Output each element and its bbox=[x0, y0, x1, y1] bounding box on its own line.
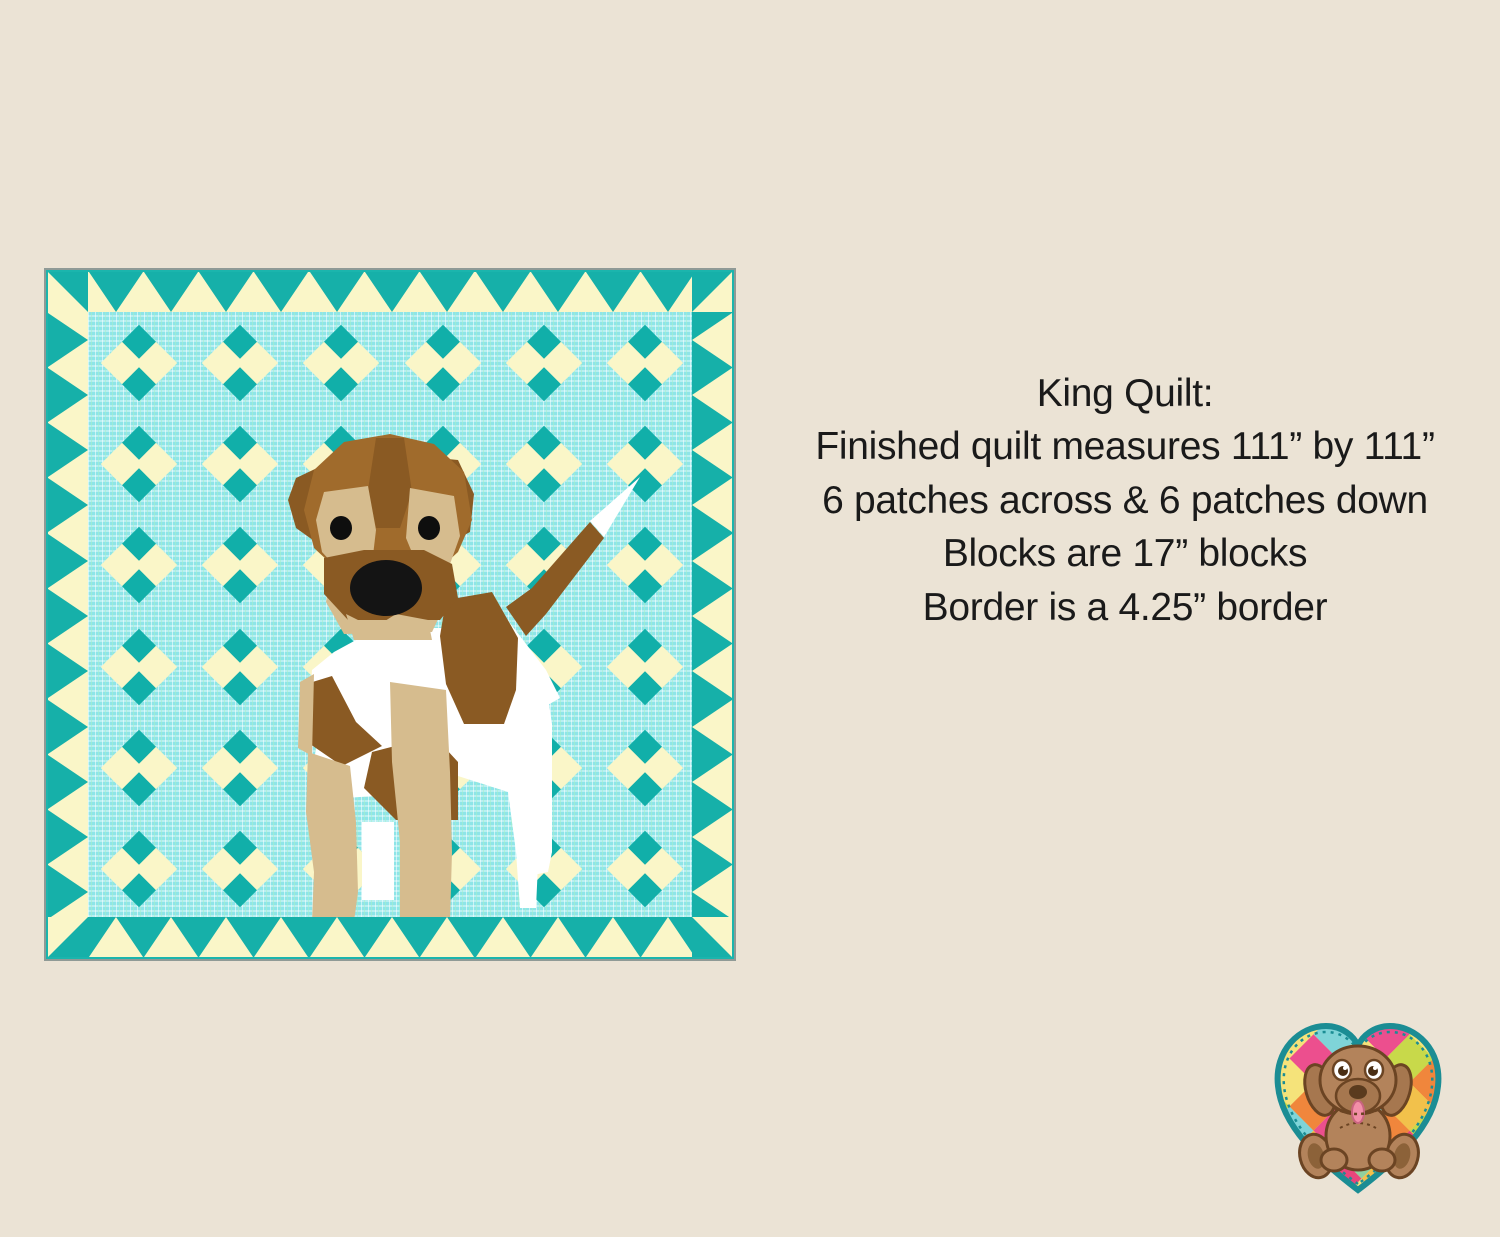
border-triangle bbox=[586, 272, 640, 312]
border-triangle bbox=[48, 700, 88, 754]
border-triangle bbox=[310, 272, 364, 312]
quilt-mockup-figure bbox=[44, 268, 736, 961]
border-triangle bbox=[254, 272, 308, 312]
border-triangle bbox=[89, 272, 143, 312]
border-triangle bbox=[48, 589, 88, 643]
border-triangle bbox=[310, 917, 364, 957]
quilt-border-top bbox=[88, 272, 692, 312]
border-triangle bbox=[476, 917, 530, 957]
border-triangle bbox=[48, 368, 88, 422]
border-triangle bbox=[199, 917, 253, 957]
quilt-inner bbox=[48, 272, 732, 957]
quilt-border-left bbox=[48, 312, 88, 917]
quilt-center-field bbox=[88, 312, 692, 917]
dog-nose bbox=[350, 560, 422, 616]
border-triangle bbox=[89, 917, 143, 957]
puppy-paw-left bbox=[1321, 1149, 1347, 1171]
border-triangle bbox=[692, 478, 732, 532]
border-triangle bbox=[254, 917, 308, 957]
quilt-border-bottom bbox=[88, 917, 692, 957]
puppy-glint-right bbox=[1373, 1066, 1377, 1070]
border-triangle bbox=[476, 272, 530, 312]
dog-front-shoulder-tan bbox=[298, 674, 314, 756]
info-line-5: Border is a 4.25” border bbox=[755, 581, 1495, 634]
quilt-info-text: King Quilt: Finished quilt measures 111”… bbox=[755, 367, 1495, 634]
border-triangle bbox=[48, 534, 88, 588]
border-triangle bbox=[531, 917, 585, 957]
border-triangle bbox=[692, 534, 732, 588]
border-triangle bbox=[692, 368, 732, 422]
border-triangle bbox=[144, 272, 198, 312]
border-triangle bbox=[586, 917, 640, 957]
border-triangle bbox=[365, 272, 419, 312]
border-triangle bbox=[692, 700, 732, 754]
puppy-paw-right bbox=[1369, 1149, 1395, 1171]
border-triangle bbox=[420, 917, 474, 957]
border-triangle bbox=[48, 423, 88, 477]
dog-eye-left bbox=[330, 516, 352, 540]
quilt-corner-bottom-left bbox=[48, 917, 88, 957]
dog-tail-brown bbox=[506, 522, 604, 636]
quilt-corner-bottom-right bbox=[692, 917, 732, 957]
border-triangle bbox=[48, 644, 88, 698]
border-triangle bbox=[199, 272, 253, 312]
quilt-corner-top-left bbox=[48, 272, 88, 312]
puppy-tongue bbox=[1352, 1101, 1364, 1123]
border-triangle bbox=[48, 810, 88, 864]
quilt-corner-top-right bbox=[692, 272, 732, 312]
border-triangle bbox=[48, 755, 88, 809]
dog-front-leg-right-tan bbox=[390, 682, 452, 917]
border-triangle bbox=[641, 917, 692, 957]
info-line-4: Blocks are 17” blocks bbox=[755, 527, 1495, 580]
info-line-3: 6 patches across & 6 patches down bbox=[755, 474, 1495, 527]
border-triangle bbox=[365, 917, 419, 957]
border-triangle bbox=[420, 272, 474, 312]
dog-tail-white-tip bbox=[590, 477, 640, 537]
border-triangle bbox=[641, 272, 692, 312]
info-line-1: King Quilt: bbox=[755, 367, 1495, 420]
dog-eye-right bbox=[418, 516, 440, 540]
dog-applique bbox=[128, 352, 692, 917]
border-triangle bbox=[692, 810, 732, 864]
border-triangle bbox=[531, 272, 585, 312]
puppy-nose bbox=[1349, 1085, 1367, 1099]
border-triangle bbox=[692, 644, 732, 698]
border-triangle bbox=[692, 423, 732, 477]
dog-front-leg-left-tan bbox=[306, 752, 358, 917]
patchwork-puppy-heart-logo bbox=[1268, 1008, 1448, 1198]
quilt-frame bbox=[44, 268, 736, 961]
border-triangle bbox=[48, 313, 88, 367]
border-triangle bbox=[48, 478, 88, 532]
border-triangle bbox=[692, 589, 732, 643]
quilt-border-right bbox=[692, 312, 732, 917]
border-triangle bbox=[692, 313, 732, 367]
dog-leg-gap-white bbox=[362, 822, 394, 900]
border-triangle bbox=[144, 917, 198, 957]
border-triangle bbox=[692, 865, 732, 917]
puppy-glint-left bbox=[1343, 1066, 1347, 1070]
border-triangle bbox=[692, 755, 732, 809]
info-line-2: Finished quilt measures 111” by 111” bbox=[755, 420, 1495, 473]
border-triangle bbox=[48, 865, 88, 917]
